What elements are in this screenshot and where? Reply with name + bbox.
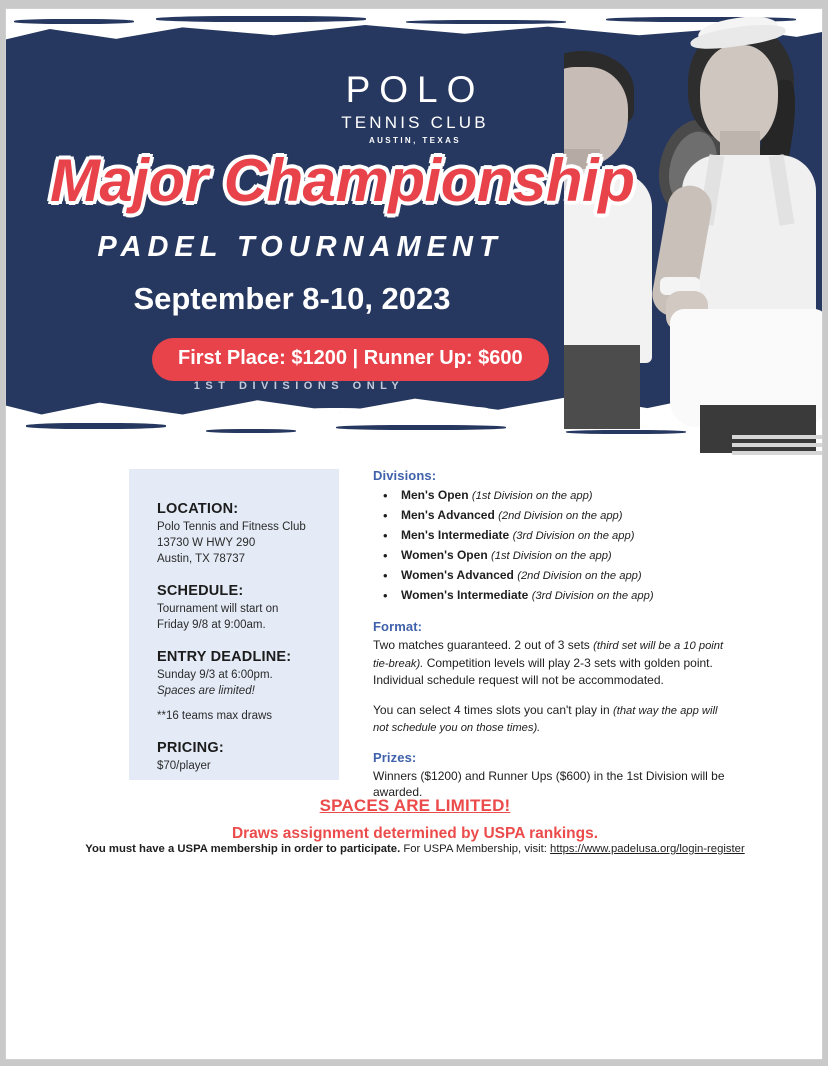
club-logo-polo: POLO xyxy=(6,71,823,108)
entry-deadline-line: Sunday 9/3 at 6:00pm. xyxy=(157,667,339,683)
division-name: Women's Advanced xyxy=(401,568,514,582)
info-schedule: SCHEDULE: Tournament will start on Frida… xyxy=(157,583,339,633)
info-box: LOCATION: Polo Tennis and Fitness Club 1… xyxy=(129,469,339,780)
brush-gap xyxy=(452,407,488,411)
brush-stroke-top xyxy=(14,19,134,24)
uspa-visit-text: For USPA Membership, visit: xyxy=(400,843,550,855)
event-subtitle: PADEL TOURNAMENT xyxy=(6,231,823,264)
brush-gap xyxy=(516,411,570,415)
event-dates: September 8-10, 2023 xyxy=(6,281,823,317)
uspa-requirement-text: You must have a USPA membership in order… xyxy=(85,843,400,855)
details-column: Divisions: Men's Open (1st Division on t… xyxy=(373,468,728,801)
info-location: LOCATION: Polo Tennis and Fitness Club 1… xyxy=(157,501,339,567)
info-entry-deadline: ENTRY DEADLINE: Sunday 9/3 at 6:00pm. Sp… xyxy=(157,649,339,722)
brush-stroke-bottom xyxy=(26,423,166,429)
divisions-heading: Divisions: xyxy=(373,468,728,483)
flyer-page: POLO TENNIS CLUB AUSTIN, TEXAS Major Cha… xyxy=(5,8,823,1060)
hero-banner: POLO TENNIS CLUB AUSTIN, TEXAS Major Cha… xyxy=(6,9,823,458)
divisions-only-note: 1ST DIVISIONS ONLY xyxy=(6,380,823,392)
brush-stroke-top xyxy=(406,20,566,24)
list-item: Men's Advanced (2nd Division on the app) xyxy=(373,506,728,526)
pricing-line: $70/player xyxy=(157,758,339,774)
division-note: (2nd Division on the app) xyxy=(498,510,622,522)
event-title: Major Championship xyxy=(50,151,634,211)
brush-stroke-bottom xyxy=(336,425,506,430)
division-name: Men's Advanced xyxy=(401,508,495,522)
divisions-list: Men's Open (1st Division on the app) Men… xyxy=(373,486,728,606)
schedule-line: Friday 9/8 at 9:00am. xyxy=(157,617,339,633)
division-name: Women's Open xyxy=(401,548,488,562)
brush-gap xyxy=(386,410,430,414)
draws-assignment-line: Draws assignment determined by USPA rank… xyxy=(6,825,823,843)
list-item: Men's Open (1st Division on the app) xyxy=(373,486,728,506)
format-paragraph-2: You can select 4 times slots you can't p… xyxy=(373,702,728,737)
division-note: (3rd Division on the app) xyxy=(532,590,654,602)
schedule-heading: SCHEDULE: xyxy=(157,583,339,599)
division-note: (3rd Division on the app) xyxy=(513,530,635,542)
list-item: Women's Open (1st Division on the app) xyxy=(373,546,728,566)
brush-stroke-top xyxy=(156,16,366,22)
brush-stroke-bottom xyxy=(206,429,296,433)
division-note: (1st Division on the app) xyxy=(491,550,612,562)
list-item: Women's Intermediate (3rd Division on th… xyxy=(373,586,728,606)
division-name: Men's Open xyxy=(401,488,469,502)
club-logo-tennis: TENNIS CLUB xyxy=(6,114,823,131)
limited-notice: SPACES ARE LIMITED! Draws assignment det… xyxy=(6,796,823,843)
location-line: Polo Tennis and Fitness Club xyxy=(157,519,339,535)
spaces-limited-headline: SPACES ARE LIMITED! xyxy=(6,796,823,816)
format-p1-a: Two matches guaranteed. 2 out of 3 sets xyxy=(373,638,593,652)
location-heading: LOCATION: xyxy=(157,501,339,517)
uspa-membership-link[interactable]: https://www.padelusa.org/login-register xyxy=(550,843,745,855)
location-line: Austin, TX 78737 xyxy=(157,551,339,567)
pricing-heading: PRICING: xyxy=(157,740,339,756)
max-draws-note: **16 teams max draws xyxy=(157,710,339,722)
division-note: (2nd Division on the app) xyxy=(517,570,641,582)
format-heading: Format: xyxy=(373,619,728,634)
division-name: Women's Intermediate xyxy=(401,588,528,602)
club-logo-location: AUSTIN, TEXAS xyxy=(6,137,823,145)
spaces-limited-note: Spaces are limited! xyxy=(157,683,339,699)
brush-gap xyxy=(306,408,366,412)
info-pricing: PRICING: $70/player xyxy=(157,740,339,774)
prizes-heading: Prizes: xyxy=(373,750,728,765)
schedule-line: Tournament will start on xyxy=(157,601,339,617)
entry-deadline-heading: ENTRY DEADLINE: xyxy=(157,649,339,665)
uspa-membership-line: You must have a USPA membership in order… xyxy=(6,843,823,855)
format-p2-a: You can select 4 times slots you can't p… xyxy=(373,703,613,717)
list-item: Men's Intermediate (3rd Division on the … xyxy=(373,526,728,546)
division-note: (1st Division on the app) xyxy=(472,490,593,502)
format-p1-b: Competition levels will play 2-3 sets wi… xyxy=(373,656,713,688)
prize-badge: First Place: $1200 | Runner Up: $600 xyxy=(152,338,549,381)
location-line: 13730 W HWY 290 xyxy=(157,535,339,551)
format-paragraph-1: Two matches guaranteed. 2 out of 3 sets … xyxy=(373,637,728,689)
club-logo-hero: POLO TENNIS CLUB AUSTIN, TEXAS xyxy=(6,71,823,145)
division-name: Men's Intermediate xyxy=(401,528,509,542)
list-item: Women's Advanced (2nd Division on the ap… xyxy=(373,566,728,586)
